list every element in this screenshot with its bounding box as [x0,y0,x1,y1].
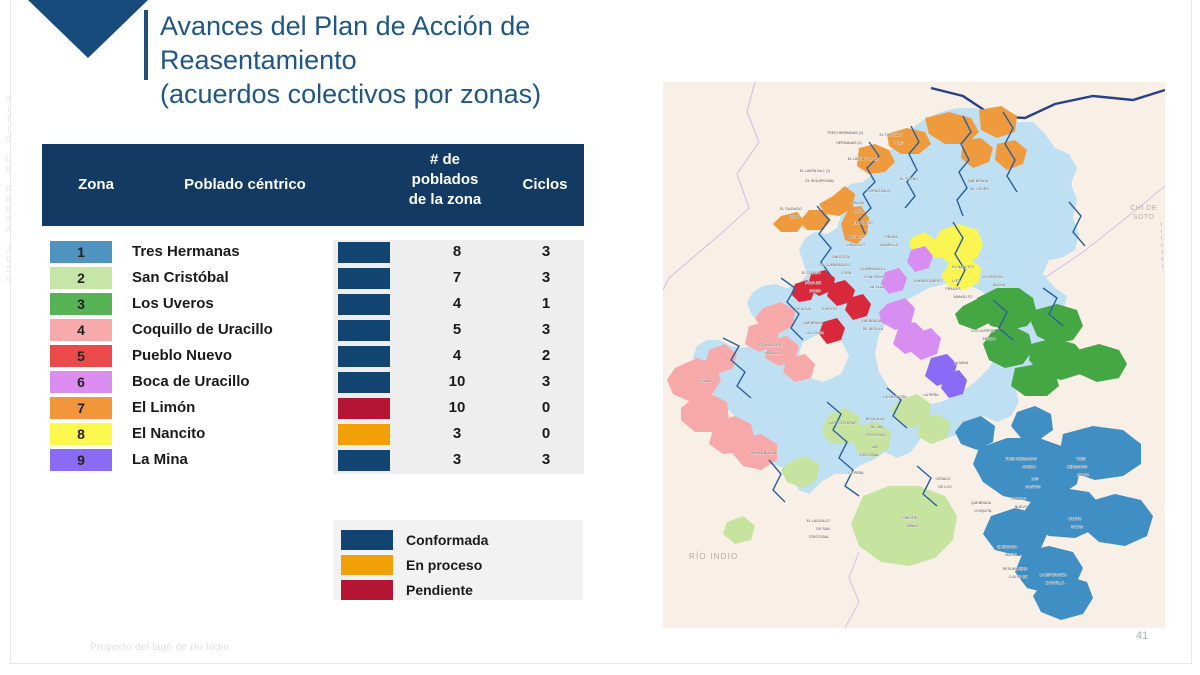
zone-name-label: Pueblo Nuevo [132,345,372,367]
map-label: TIERRA BUENA [750,451,777,455]
map-label: EL CEDRO [971,187,989,191]
map-label: ANGOSTA [832,255,850,259]
table-header-row: Zona Poblado céntrico # de poblados de l… [42,144,584,226]
map-label: DE AGUA [795,307,812,311]
map-label: MANGLITO [954,295,973,299]
map-label: LOS UVEROS [971,329,995,333]
map-label: LA MINA [954,361,969,365]
status-legend: ConformadaEn procesoPendiente [333,520,583,600]
map-label: EL HARINO [853,221,872,225]
num-poblados-value: 3 [402,449,512,471]
zone-name-label: El Limón [132,397,372,419]
map-label: EL TORNILLO [879,133,902,137]
status-badge [338,424,390,445]
table-row: 7El Limón100 [42,396,584,422]
table-row: 5Pueblo Nuevo42 [42,344,584,370]
slide-border-bottom [10,663,1192,664]
map-label: RESUMIDERO [1003,567,1028,571]
map-label: CIRIACO [936,477,951,481]
column-header-num-poblados-l1: # de [390,150,500,170]
ciclos-value: 3 [516,371,576,393]
map-label: NAZAS [1071,525,1084,529]
ciclos-value: 3 [516,267,576,289]
zone-name-label: San Cristóbal [132,267,372,289]
zone-number-chip: 2 [50,267,112,289]
map-label: BOQUILLA [866,417,885,421]
map-label: EMBARCADERO [914,279,942,283]
map-label: LOS [952,279,960,283]
map-label: CRISTOBAL [809,535,829,539]
ciclos-value: 3 [516,241,576,263]
map-label: BOCA DE [805,281,822,285]
map-svg: TRES HERMANAS (1)HERMANAS (2)EL TORNILLO… [663,82,1165,628]
zone-number-chip: 8 [50,423,112,445]
zone-number-chip: 6 [50,371,112,393]
edge-watermark: SITIO DE PRESA 2025 [0,95,13,395]
map-label: NUEVO [1015,505,1028,509]
column-header-num-poblados: # de poblados de la zona [390,150,500,210]
map-label: CHILAR [698,379,712,383]
map-label: LA PEÑA [849,470,865,475]
num-poblados-value: 4 [402,345,512,367]
footer-text: Proyecto del lago de río Indio [90,642,229,653]
legend-color-swatch [341,580,393,600]
map-corner-label-line1: CHI DE [1130,204,1157,213]
map-label: EL NANCITO [952,265,974,269]
map-label: DE SAN [816,527,830,531]
map-label: PALMA [852,201,865,205]
num-poblados-value: 3 [402,423,512,445]
map-label: QUEBRADA [861,319,882,323]
ciclos-value: 0 [516,397,576,419]
map-label: DON PACHO [864,275,886,279]
zone-name-label: Boca de Uracillo [132,371,372,393]
zone-number-chip: 5 [50,345,112,367]
table-row: 2San Cristóbal73 [42,266,584,292]
map-label: LOS [1031,477,1039,481]
slide-root: SITIO DE PRESA 2025 Avances del Plan de … [0,0,1200,675]
map-corner-label: CHI DE SOTO [1130,204,1157,222]
status-badge [338,372,390,393]
page-title-line1: Avances del Plan de Acción de Reasentami… [160,11,530,75]
legend-color-swatch [341,555,393,575]
map-label: DE LOS [938,485,952,489]
status-badge [338,242,390,263]
map-label: EL TORNO [900,177,918,181]
map-label: TRES HERMANAS [1006,457,1038,461]
map-label: EL LIMÓN No.1 (2) [848,156,879,161]
ciclos-value: 3 [516,449,576,471]
table-row: 8El Nancito30 [42,422,584,448]
map-label: TRES HERMANAS (1) [827,131,863,135]
zone-name-label: El Nancito [132,423,372,445]
map-label: TORNO BAJO [867,189,891,193]
num-poblados-value: 8 [402,241,512,263]
num-poblados-value: 4 [402,293,512,315]
map-label: PIEDRA [884,235,898,239]
ciclos-value: 0 [516,423,576,445]
status-badge [338,450,390,471]
map-label: EL RINCÓN [983,274,1003,279]
ciclos-value: 3 [516,319,576,341]
column-header-ciclos: Ciclos [510,176,580,193]
zones-table: Zona Poblado céntrico # de poblados de l… [42,144,584,474]
table-row: 1Tres Hermanas83 [42,240,584,266]
map-label: CRISTOBAL [859,453,879,457]
map-label: REAL [854,209,863,213]
map-label: EL SILENCIO [780,207,802,211]
title-accent-bar [144,10,148,80]
ciclos-value: 2 [516,345,576,367]
zone-number-chip: 7 [50,397,112,419]
map-label: EL CONGO [802,271,821,275]
column-header-num-poblados-l2: poblados [390,170,500,190]
map-label: QUEBRADA [803,321,824,325]
map-label: NUEVO [1069,517,1082,521]
map-label: SANTOS [1026,485,1041,489]
status-badge [338,294,390,315]
map-label: TIJERITO [821,307,837,311]
map-label: EL LAGUILLO [807,519,830,523]
page-title-line2: (acuerdos colectivos por zonas) [160,77,720,111]
map-label: LA PEÑA [924,392,940,397]
column-header-num-poblados-l3: de la zona [390,190,500,210]
table-row: 4Coquillo de Uracillo53 [42,318,584,344]
legend-color-swatch [341,530,393,550]
column-header-zona: Zona [56,176,136,193]
table-row: 9La Mina33 [42,448,584,474]
map-label: DE QUEBRADA EL [819,263,850,267]
map-label: QUEBRADA [968,179,989,183]
map-corner-label-line2: SOTO [1130,213,1157,222]
map-label: TRES [1076,457,1086,461]
num-poblados-value: 7 [402,267,512,289]
page-title: Avances del Plan de Acción de Reasentami… [160,9,720,111]
map-label: DE LAS [871,425,884,429]
zone-name-label: La Mina [132,449,372,471]
map-label: CHIQUITA [975,509,993,513]
map-label: LAS [872,445,879,449]
table-body: 1Tres Hermanas832San Cristóbal733Los Uve… [42,240,584,474]
column-header-poblado: Poblado céntrico [140,176,350,193]
zone-name-label: Tres Hermanas [132,241,372,263]
zone-name-label: Coquillo de Uracillo [132,319,372,341]
map-label: MIRIA [789,215,800,219]
legend-label: Pendiente [406,580,473,600]
map-label: ANCHA [993,283,1006,287]
num-poblados-value: 10 [402,371,512,393]
status-badge [338,320,390,341]
map-label: PUEBLO [1012,497,1027,501]
table-row: 3Los Uveros41 [42,292,584,318]
map-label: LA MENDOZA [883,395,907,399]
map-label: LAS POSTERAS [829,421,857,425]
map-label: NUEVA [1005,553,1018,557]
map-label: CHILOTE [902,516,918,520]
map-label: AMARILLA [880,243,898,247]
num-poblados-value: 5 [402,319,512,341]
map-label: O ALTO DE [1009,575,1028,579]
map-label: HERMANAS (2) [836,141,862,145]
map-label: EL HIGUERONAL [805,179,834,183]
map-label: QUEBRADA EL [860,267,885,271]
map-label: QUEBRADA [997,545,1018,549]
map-label: TRES [894,141,904,145]
page-number: 41 [1136,630,1148,642]
rio-indio-label: RÍO INDIO [689,552,738,561]
map-label: BOHIO [809,289,821,293]
zone-number-chip: 9 [50,449,112,471]
legend-label: Conformada [406,530,488,550]
zone-name-label: Los Uveros [132,293,372,315]
status-badge [338,346,390,367]
num-poblados-value: 10 [402,397,512,419]
map-label: HERMANAS [1067,465,1088,469]
map-label: POSTERAS [866,433,886,437]
zone-number-chip: 3 [50,293,112,315]
map-label: URACILLO [847,243,865,247]
map-label: ARRIBA [1022,465,1036,469]
map-label: URACILLO [764,351,782,355]
slide-border-right [1191,0,1192,664]
table-row: 6Boca de Uracillo103 [42,370,584,396]
map-label: FRAILES [946,287,962,291]
map-label: ARRIBA [982,337,996,341]
status-badge [338,398,390,419]
map-label: QUEBRADA [971,501,992,505]
map-label: LA LONGA [806,331,824,335]
map-label: EL LIMÓN No.1 (1) [800,168,831,173]
zone-number-chip: 4 [50,319,112,341]
map-label: ZAPATILLA [1046,581,1065,585]
map-label: COQUILLO DE [757,343,782,347]
ciclos-value: 1 [516,293,576,315]
project-map[interactable]: TRES HERMANAS (1)HERMANAS (2)EL TORNILLO… [663,82,1165,628]
status-badge [338,268,390,289]
map-label: CORA [841,271,852,275]
map-label: DE URSULA [863,327,884,331]
zone-number-chip: 1 [50,241,112,263]
map-label: BOCA DE [848,235,865,239]
map-label: LA ESPERANZA [1040,573,1068,577]
map-label: LA OLLA [870,285,885,289]
legend-label: En proceso [406,555,482,575]
map-label: ABAJO [1077,473,1089,477]
triangle-accent-icon [28,0,148,58]
map-label: ABAJO [907,524,919,528]
